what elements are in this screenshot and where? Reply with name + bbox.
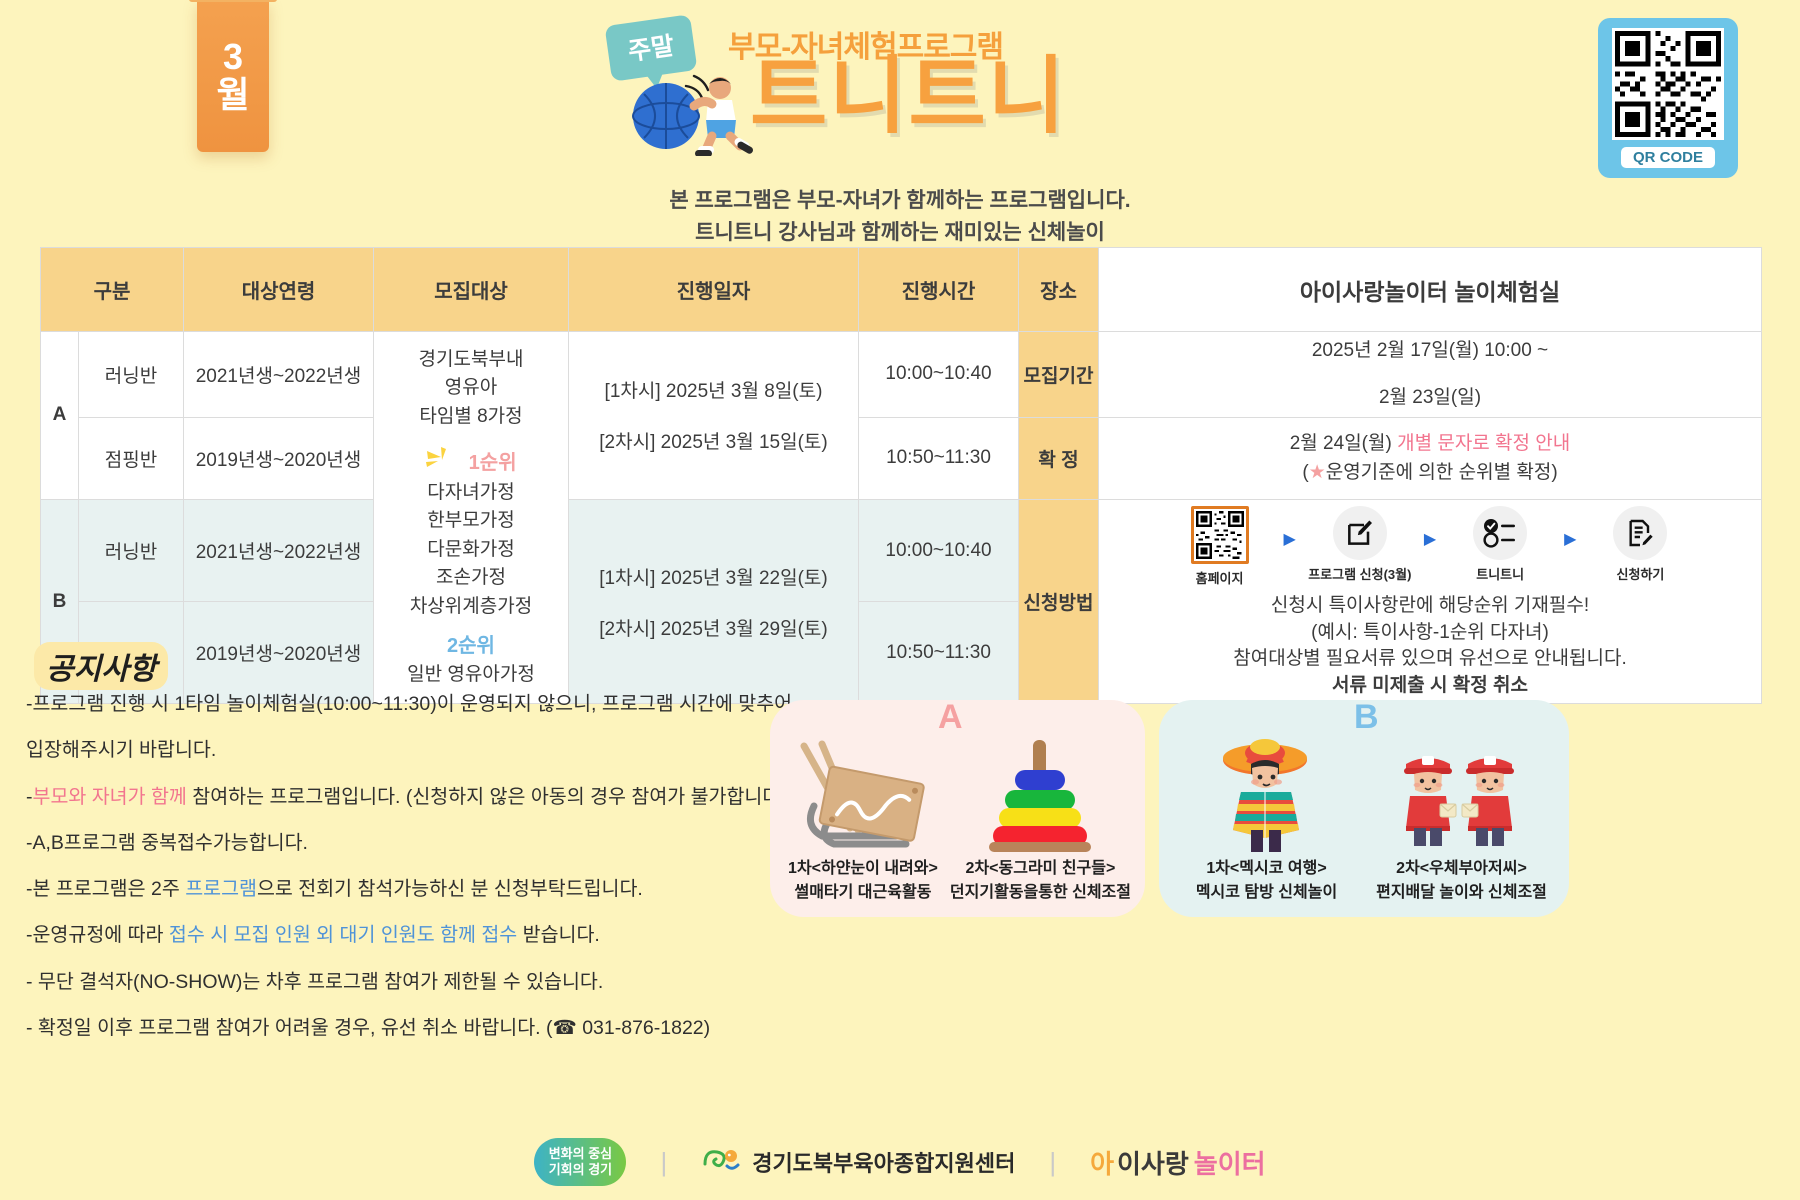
month-ribbon: 3 월 (197, 0, 269, 152)
swirl-icon (701, 1144, 743, 1181)
logo-row: 트니트니 (620, 70, 1180, 156)
apply-step-homepage[interactable]: 홈페이지 (1166, 506, 1274, 589)
table-row: A 러닝반 2021년생~2022년생 경기도북부내 영유아 타임별 8가정 (41, 332, 1762, 418)
notice-text: 입장해주시기 바랍니다. (26, 739, 216, 761)
label-method: 신청방법 (1019, 499, 1099, 704)
header-venue: 아이사랑놀이터 놀이체험실 (1099, 248, 1762, 332)
step-label: 트니트니 (1476, 565, 1524, 585)
group-label-a: A (41, 332, 79, 500)
playground-logo: 아 이사랑 놀이터 (1090, 1144, 1265, 1181)
activity-caption-1: 2차<우체부아저씨> (1396, 858, 1527, 880)
target-line-3: 타임별 8가정 (377, 403, 565, 432)
notice-title: 공지사항 (34, 642, 168, 690)
title-block: 주말 부모-자녀체험프로그램 (620, 6, 1180, 249)
qr-code-box[interactable]: QR CODE (1598, 18, 1738, 178)
activity-card-b: B (1159, 700, 1569, 917)
schedule-table: 구분 대상연령 모집대상 진행일자 진행시간 장소 아이사랑놀이터 놀이체험실 … (40, 247, 1762, 704)
confirm-cell: 2월 24일(월) 개별 문자로 확정 안내 (★운영기준에 의한 순위별 확정… (1099, 417, 1762, 499)
header-group: 구분 (41, 248, 184, 332)
table-row: B 러닝반 2021년생~2022년생 [1차시] 2025년 3월 22일(토… (41, 499, 1762, 601)
poster-header: 3 월 주말 부모-자녀체험프로그램 (0, 0, 1800, 245)
confirm-line-2: (★운영기준에 의한 순위별 확정) (1102, 458, 1758, 487)
class-name: 러닝반 (79, 332, 184, 418)
notice-text: -본 프로그램은 2주 (26, 878, 185, 900)
confirm-prefix: 2월 24일(월) (1290, 433, 1397, 454)
date-session-1: [1차시] 2025년 3월 22일(토) (572, 563, 855, 590)
pencil-square-icon (1333, 506, 1387, 560)
apply-note-1: 신청시 특이사항란에 해당순위 기재필수! (1102, 593, 1758, 620)
playground-text-3: 놀이터 (1194, 1144, 1266, 1181)
notice-text: -A,B프로그램 중복접수가능합니다. (26, 832, 308, 854)
activity-cards: A (770, 700, 1569, 917)
form-edit-icon (1613, 506, 1667, 560)
notice-item: 입장해주시기 바랍니다. (26, 736, 796, 764)
time-slot: 10:50~11:30 (859, 417, 1019, 499)
step-label: 홈페이지 (1196, 569, 1244, 589)
notice-text: 접수 시 모집 인원 외 대기 인원도 함께 접수 (169, 924, 517, 946)
activity-card-a: A (770, 700, 1145, 917)
confirm-highlight: 개별 문자로 확정 안내 (1397, 433, 1570, 454)
notice-text: - 확정일 이후 프로그램 참여가 어려울 경우, 유선 취소 바랍니다. (☎… (26, 1017, 710, 1039)
apply-note-4: 서류 미제출 시 확정 취소 (1102, 673, 1758, 700)
arrow-right-icon: ▶ (1284, 528, 1296, 553)
center-logo: 경기도북부육아종합지원센터 (701, 1144, 1015, 1181)
notice-text: -프로그램 진행 시 1타임 놀이체험실(10:00~11:30)이 운영되지 … (26, 693, 792, 715)
notice-item: -부모와 자녀가 함께 참여하는 프로그램입니다. (신청하지 않은 아동의 경… (26, 783, 796, 811)
activity-cell: 1차<멕시코 여행> 멕시코 탐방 신체놀이 (1173, 734, 1360, 905)
star-icon: ★ (1309, 462, 1326, 483)
arrow-right-icon: ▶ (1564, 528, 1576, 553)
date-cell-a: [1차시] 2025년 3월 8일(토) [2차시] 2025년 3월 15일(… (569, 332, 859, 500)
target-cell: 경기도북부내 영유아 타임별 8가정 1순위 (374, 332, 569, 704)
recruit-period-cell: 2025년 2월 17일(월) 10:00 ~ 2월 23일(일) (1099, 332, 1762, 418)
activity-caption-1: 1차<하얀눈이 내려와> (788, 858, 938, 880)
apply-step-program[interactable]: 프로그램 신청(3월) (1306, 506, 1414, 585)
qr-code-icon (1612, 28, 1724, 140)
ball-kid-illustration (628, 64, 758, 161)
step-label: 프로그램 신청(3월) (1308, 565, 1411, 585)
time-slot: 10:00~10:40 (859, 499, 1019, 601)
target-line-1: 경기도북부내 (377, 346, 565, 375)
confirm-note: 운영기준에 의한 순위별 확정) (1326, 462, 1558, 483)
notice-text: -운영규정에 따라 (26, 924, 169, 946)
activity-caption-2: 썰매타기 대근육활동 (794, 882, 931, 904)
table-row: 점핑반 2019년생~2020년생 10:50~11:30 확 정 2월 24일… (41, 417, 1762, 499)
card-letter-a: A (938, 698, 963, 737)
apply-step-submit[interactable]: 신청하기 (1586, 506, 1694, 585)
apply-steps: 홈페이지 ▶ 프로그램 신청(3월) ▶ (1102, 506, 1758, 589)
gyeonggi-logo: 변화의 중심 기회의 경기 (534, 1138, 626, 1186)
priority-1-label: 1순위 (469, 452, 517, 474)
card-letter-b: B (1354, 698, 1379, 737)
qr-code-icon (1191, 506, 1249, 564)
poster-title: 트니트니 (750, 54, 1067, 138)
priority-1-item: 조손가정 (377, 564, 565, 593)
date-session-2: [2차시] 2025년 3월 29일(토) (572, 614, 855, 641)
month-unit: 월 (216, 77, 249, 113)
subtitle-line-1: 본 프로그램은 부모-자녀가 함께하는 프로그램입니다. (620, 186, 1180, 216)
activity-cell: 2차<동그라미 친구들> 던지기활동을통한 신체조절 (950, 734, 1131, 905)
class-name: 러닝반 (79, 499, 184, 601)
gg-line-2: 기회의 경기 (549, 1162, 612, 1178)
period-line-2: 2월 23일(일) (1102, 383, 1758, 412)
notice-text: 으로 전회기 참석가능하신 분 신청부탁드립니다. (257, 878, 643, 900)
playground-text-1: 아 (1090, 1144, 1114, 1181)
header-time: 진행시간 (859, 248, 1019, 332)
age-range: 2019년생~2020년생 (184, 417, 374, 499)
gyeonggi-badge: 변화의 중심 기회의 경기 (534, 1138, 626, 1186)
subtitle-line-2: 트니트니 강사님과 함께하는 재미있는 신체놀이 (620, 218, 1180, 248)
activity-cell: 1차<하얀눈이 내려와> 썰매타기 대근육활동 (784, 734, 942, 905)
checklist-icon (1473, 506, 1527, 560)
apply-note-2: (예시: 특이사항-1순위 다자녀) (1102, 620, 1758, 647)
divider: | (660, 1147, 667, 1178)
gg-line-1: 변화의 중심 (549, 1146, 612, 1162)
qr-code-label: QR CODE (1621, 147, 1715, 168)
postman-icon (1382, 734, 1542, 852)
arrow-right-icon: ▶ (1424, 528, 1436, 553)
time-slot: 10:00~10:40 (859, 332, 1019, 418)
apply-step-tnitni[interactable]: 트니트니 (1446, 506, 1554, 585)
mexican-boy-icon (1207, 734, 1327, 852)
notice-text: 부모와 자녀가 함께 (33, 786, 187, 808)
playground-text-2: 이사랑 (1117, 1144, 1189, 1181)
priority-1-item: 한부모가정 (377, 507, 565, 536)
apply-note-3: 참여대상별 필요서류 있으며 유선으로 안내됩니다. (1102, 646, 1758, 673)
priority-1-block: 1순위 다자녀가정 한부모가정 다문화가정 조손가정 차상위계층가정 (377, 445, 565, 621)
notice-item: - 무단 결석자(NO-SHOW)는 차후 프로그램 참여가 제한될 수 있습니… (26, 968, 796, 996)
notice-item: -운영규정에 따라 접수 시 모집 인원 외 대기 인원도 함께 접수 받습니다… (26, 921, 796, 949)
table-header-row: 구분 대상연령 모집대상 진행일자 진행시간 장소 아이사랑놀이터 놀이체험실 (41, 248, 1762, 332)
time-slot: 10:50~11:30 (859, 602, 1019, 704)
notice-text: 프로그램 (185, 878, 257, 900)
notice-item: -본 프로그램은 2주 프로그램으로 전회기 참석가능하신 분 신청부탁드립니다… (26, 875, 796, 903)
class-name: 점핑반 (79, 417, 184, 499)
notice-item: -프로그램 진행 시 1타임 놀이체험실(10:00~11:30)이 운영되지 … (26, 690, 796, 718)
date-session-1: [1차시] 2025년 3월 8일(토) (572, 376, 855, 403)
priority-2-label: 2순위 (377, 631, 565, 661)
label-period: 모집기간 (1019, 332, 1099, 418)
activity-caption-2: 편지배달 놀이와 신체조절 (1376, 882, 1547, 904)
notice-text: - 무단 결석자(NO-SHOW)는 차후 프로그램 참여가 제한될 수 있습니… (26, 971, 603, 993)
period-line-1: 2025년 2월 17일(월) 10:00 ~ (1102, 336, 1758, 365)
notice-text: 받습니다. (517, 924, 600, 946)
month-number: 3 (223, 39, 243, 75)
apply-method-cell: 홈페이지 ▶ 프로그램 신청(3월) ▶ (1099, 499, 1762, 704)
footer-logos: 변화의 중심 기회의 경기 | 경기도북부육아종합지원센터 | 아 이사랑 놀이… (0, 1138, 1800, 1186)
activity-caption-2: 멕시코 탐방 신체놀이 (1196, 882, 1337, 904)
activity-cell: 2차<우체부아저씨> 편지배달 놀이와 신체조절 (1368, 734, 1555, 905)
sled-icon (788, 734, 938, 852)
activity-caption-2: 던지기활동을통한 신체조절 (950, 882, 1131, 904)
date-session-2: [2차시] 2025년 3월 15일(토) (572, 427, 855, 454)
priority-2-item: 일반 영유아가정 (377, 661, 565, 690)
step-label: 신청하기 (1617, 565, 1665, 585)
date-cell-b: [1차시] 2025년 3월 22일(토) [2차시] 2025년 3월 29일… (569, 499, 859, 704)
age-range: 2021년생~2022년생 (184, 332, 374, 418)
priority-2-block: 2순위 일반 영유아가정 (377, 631, 565, 690)
header-date: 진행일자 (569, 248, 859, 332)
header-age: 대상연령 (184, 248, 374, 332)
confirm-line-1: 2월 24일(월) 개별 문자로 확정 안내 (1102, 429, 1758, 458)
target-line-2: 영유아 (377, 374, 565, 403)
label-confirm: 확 정 (1019, 417, 1099, 499)
divider: | (1049, 1147, 1056, 1178)
priority-1-item: 다자녀가정 (377, 479, 565, 508)
priority-1-item: 다문화가정 (377, 536, 565, 565)
priority-1-item: 차상위계층가정 (377, 593, 565, 622)
header-target: 모집대상 (374, 248, 569, 332)
notice-item: - 확정일 이후 프로그램 참여가 어려울 경우, 유선 취소 바랍니다. (☎… (26, 1014, 796, 1042)
age-range: 2021년생~2022년생 (184, 499, 374, 601)
activity-caption-1: 2차<동그라미 친구들> (966, 858, 1116, 880)
notice-item: -A,B프로그램 중복접수가능합니다. (26, 829, 796, 857)
ring-stack-icon (975, 734, 1105, 852)
notice-list: -프로그램 진행 시 1타임 놀이체험실(10:00~11:30)이 운영되지 … (26, 690, 796, 1060)
age-range: 2019년생~2020년생 (184, 602, 374, 704)
center-name: 경기도북부육아종합지원센터 (752, 1146, 1015, 1178)
header-place: 장소 (1019, 248, 1099, 332)
sparkle-icon (425, 445, 459, 478)
activity-caption-1: 1차<멕시코 여행> (1206, 858, 1326, 880)
notice-text: 참여하는 프로그램입니다. (신청하지 않은 아동의 경우 참여가 불가합니다.… (187, 786, 792, 808)
